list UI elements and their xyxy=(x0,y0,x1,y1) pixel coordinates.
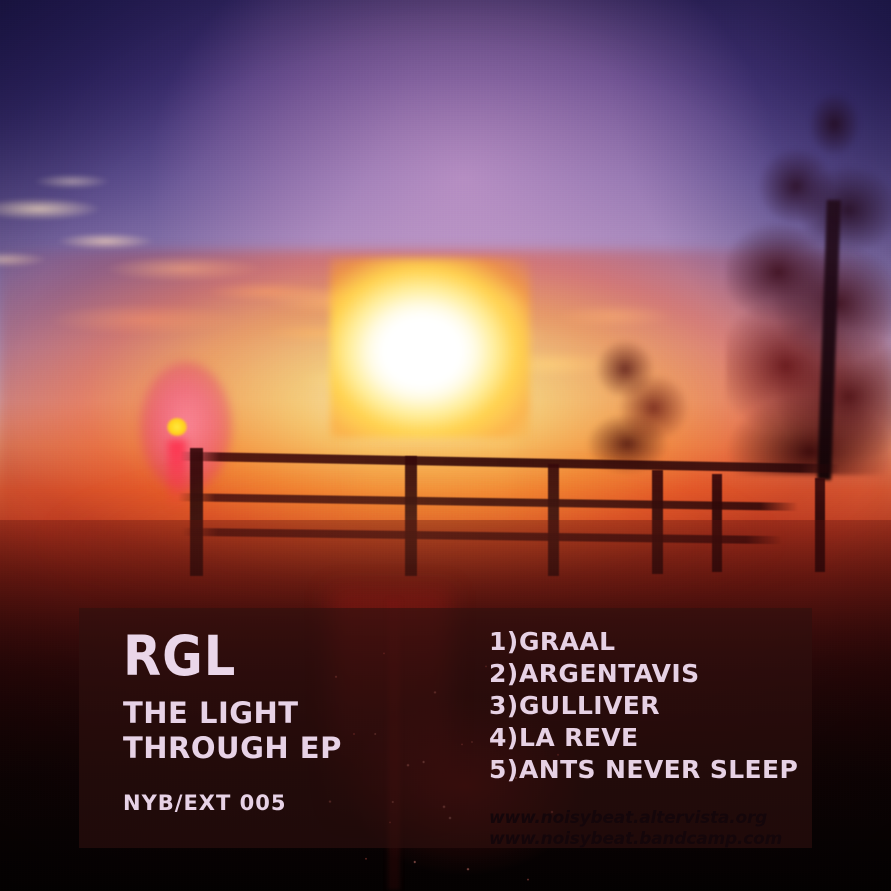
track-title: GULLIVER xyxy=(519,690,660,722)
track-number: 4) xyxy=(489,722,519,754)
link-bandcamp[interactable]: www.noisybeat.bandcamp.com xyxy=(489,829,812,850)
tracklist: 1) GRAAL 2) ARGENTAVIS 3) GULLIVER 4) LA… xyxy=(489,626,812,786)
track-number: 1) xyxy=(489,626,519,658)
track-item: 2) ARGENTAVIS xyxy=(489,658,812,690)
track-item: 5) ANTS NEVER SLEEP xyxy=(489,754,812,786)
track-title: GRAAL xyxy=(519,626,615,658)
sun-core xyxy=(330,258,530,438)
track-title: ARGENTAVIS xyxy=(519,658,700,690)
album-cover: RGL THE LIGHT THROUGH EP NYB/EXT 005 1) … xyxy=(0,0,891,891)
link-altervista[interactable]: www.noisybeat.altervista.org xyxy=(489,808,812,829)
track-item: 4) LA REVE xyxy=(489,722,812,754)
tree-silhouette-right xyxy=(726,85,891,475)
track-item: 3) GULLIVER xyxy=(489,690,812,722)
panel-left-column: RGL THE LIGHT THROUGH EP NYB/EXT 005 xyxy=(79,608,489,815)
release-title-line-2: THROUGH EP xyxy=(123,731,489,766)
lens-flare-core xyxy=(167,418,187,436)
track-number: 5) xyxy=(489,754,519,786)
info-panel: RGL THE LIGHT THROUGH EP NYB/EXT 005 1) … xyxy=(79,608,812,848)
website-links: www.noisybeat.altervista.org www.noisybe… xyxy=(489,808,812,851)
track-title: ANTS NEVER SLEEP xyxy=(519,754,798,786)
release-title: THE LIGHT THROUGH EP xyxy=(123,696,489,767)
artist-name: RGL xyxy=(123,630,489,684)
release-title-line-1: THE LIGHT xyxy=(123,696,489,731)
track-item: 1) GRAAL xyxy=(489,626,812,658)
track-number: 3) xyxy=(489,690,519,722)
panel-right-column: 1) GRAAL 2) ARGENTAVIS 3) GULLIVER 4) LA… xyxy=(489,608,812,851)
catalog-number: NYB/EXT 005 xyxy=(123,791,489,815)
track-title: LA REVE xyxy=(519,722,639,754)
track-number: 2) xyxy=(489,658,519,690)
